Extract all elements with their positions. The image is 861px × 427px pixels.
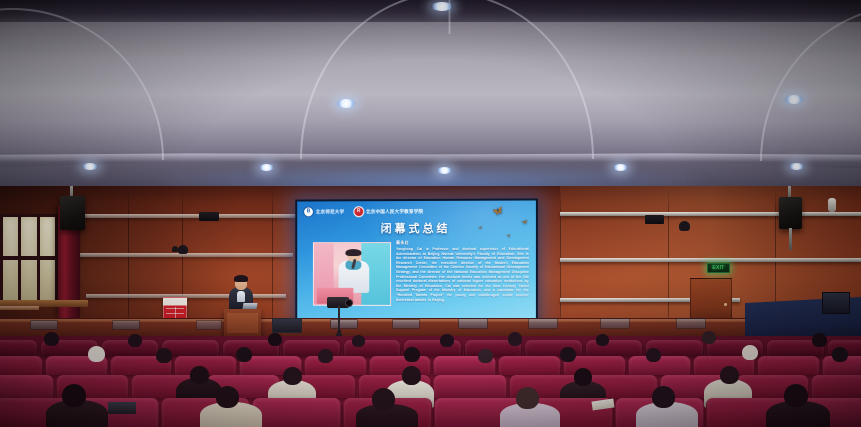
- audience-head: [44, 332, 59, 346]
- ceiling-downlight: [336, 99, 356, 108]
- audience-head: [318, 349, 333, 363]
- wall-trim-strip: [66, 214, 296, 218]
- university-logo-primary-text: 北京师范大学: [316, 209, 344, 215]
- audience-head: [574, 368, 592, 386]
- desk-monitor: [112, 320, 140, 330]
- auditorium-seat[interactable]: [0, 356, 43, 375]
- audience-head: [190, 366, 209, 384]
- ceiling-downlight: [82, 163, 98, 170]
- audience-head: [560, 347, 576, 362]
- audience-head: [440, 334, 454, 347]
- wall-camera: [178, 245, 188, 254]
- auditorium-photo: EXIT 🦋 🦋 🦋 🦋 B 北京师范大学 R 北京中国人民大学: [0, 0, 861, 427]
- desk-monitor: [528, 318, 558, 329]
- ceiling-speaker-right: [779, 197, 802, 229]
- wall-trim-strip: [560, 212, 861, 216]
- audience-head: [652, 386, 675, 408]
- wall-panel-seam: [128, 188, 129, 338]
- ceiling-speaker-left: [60, 196, 85, 230]
- audience-head: [88, 346, 105, 362]
- auditorium-seat[interactable]: [0, 375, 54, 398]
- ceiling-upper-shadow: [0, 0, 861, 22]
- audience-head: [720, 366, 739, 384]
- audience-head: [812, 333, 827, 347]
- desk-monitor: [676, 318, 706, 329]
- audience-head: [832, 347, 848, 362]
- audience-head: [352, 335, 365, 347]
- slide-logo-bar: B 北京师范大学 R 北京中国人民大学教育学院: [303, 205, 530, 219]
- exit-sign-label: EXIT: [712, 266, 724, 271]
- audience-head: [784, 384, 808, 407]
- speaker-bracket: [789, 228, 792, 250]
- bnu-seal-icon: B: [303, 206, 314, 217]
- university-logo-secondary: R 北京中国人民大学教育学院: [353, 206, 423, 217]
- wall-emergency-light: [828, 198, 836, 212]
- audience-head: [742, 345, 758, 360]
- audience-head: [283, 367, 302, 385]
- wall-camera: [172, 246, 178, 252]
- video-camera-lens: [345, 299, 353, 307]
- audience-head: [268, 333, 282, 346]
- wall-trim-strip: [560, 258, 861, 262]
- desk-monitor: [196, 320, 222, 330]
- audience-head: [156, 348, 172, 363]
- audience-head: [128, 334, 142, 347]
- audience-head: [516, 387, 539, 409]
- slide-speaker-photo: [313, 242, 391, 306]
- ceiling-downlight: [784, 95, 804, 104]
- lectern-laptop: [242, 303, 257, 309]
- desk-monitor: [392, 319, 420, 329]
- desk-monitor: [330, 319, 358, 329]
- audience-head: [62, 384, 86, 407]
- desk-monitor: [458, 318, 488, 329]
- audience-head: [596, 334, 609, 346]
- ceiling-downlight: [613, 164, 628, 171]
- exit-sign: EXIT: [707, 263, 730, 273]
- audience-head: [236, 347, 252, 362]
- photo-person-hair: [346, 249, 362, 256]
- wall-panel-seam: [560, 188, 561, 338]
- ceiling-downlight: [259, 164, 274, 171]
- auditorium-seat[interactable]: [757, 356, 820, 375]
- audience-head: [402, 366, 421, 385]
- wall-camera: [679, 221, 690, 231]
- auditorium-seat[interactable]: [811, 375, 861, 398]
- wall-projector: [199, 212, 219, 221]
- partner-seal-icon: R: [353, 206, 364, 217]
- wall-panel-seam: [272, 188, 273, 338]
- audience-head: [646, 348, 661, 362]
- control-desk-monitor: [272, 318, 302, 333]
- ceiling-downlight: [431, 2, 453, 11]
- door-knob: [724, 303, 727, 306]
- ceiling-downlight: [437, 167, 452, 174]
- audience-head: [508, 332, 522, 346]
- auditorium-seat[interactable]: [433, 375, 507, 398]
- university-logo-secondary-text: 北京中国人民大学教育学院: [366, 208, 423, 214]
- desk-monitor: [30, 320, 58, 330]
- ceiling-downlight: [789, 163, 804, 170]
- wall-projector: [645, 215, 664, 224]
- lectern-top: [0, 306, 39, 310]
- av-control-monitor: [822, 292, 850, 314]
- auditorium-seat[interactable]: [498, 356, 561, 375]
- audience-head: [404, 347, 420, 362]
- wall-panel-seam: [668, 188, 669, 338]
- auditorium-seat[interactable]: [304, 356, 367, 375]
- auditorium-seat[interactable]: [585, 340, 643, 356]
- audience-head: [216, 386, 239, 408]
- presenter-hair: [234, 275, 248, 282]
- auditorium-seat[interactable]: [252, 398, 341, 427]
- slide-biography-text: Yonghong Cai is Professor and doctoral s…: [396, 247, 529, 302]
- slide-title: 闭幕式总结: [297, 220, 536, 237]
- auditorium-seat[interactable]: [0, 340, 38, 356]
- desk-monitor: [600, 318, 630, 329]
- audience-head: [702, 331, 716, 344]
- slide-speaker-name: 蔡永红: [396, 241, 529, 246]
- presenter-shirt: [237, 291, 245, 302]
- audience-head: [478, 349, 493, 363]
- university-logo-primary: B 北京师范大学: [303, 206, 344, 217]
- slide-body-text: 蔡永红 Yonghong Cai is Professor and doctor…: [396, 241, 529, 303]
- audience-head: [372, 388, 395, 410]
- audience-laptop: [108, 402, 136, 414]
- auditorium-seat[interactable]: [369, 356, 432, 375]
- lectern-front-panel: [227, 313, 258, 333]
